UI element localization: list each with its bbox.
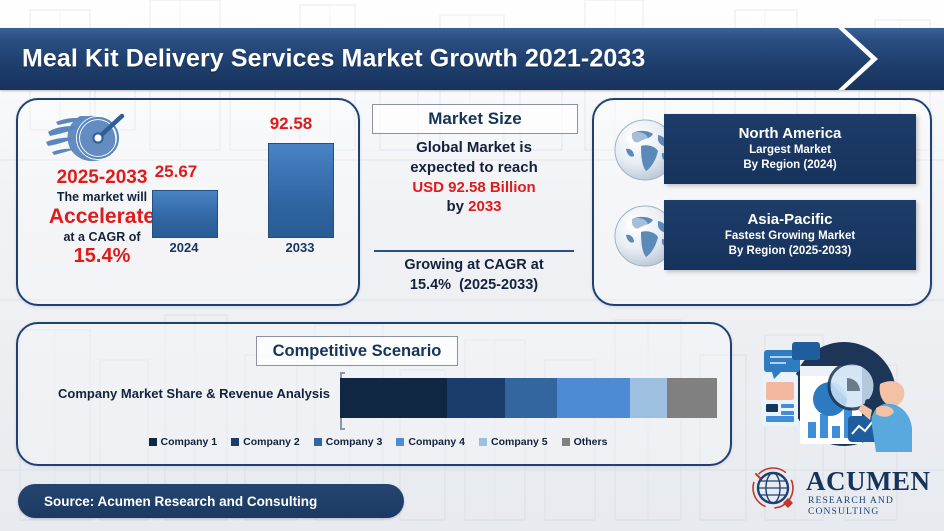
market-size-bar-chart: 25.67 2024 92.58 2033 — [138, 112, 354, 292]
brand-name: ACUMEN — [806, 466, 931, 497]
market-analysis-illustration — [752, 330, 932, 458]
market-size-year-line: by 2033 — [372, 197, 576, 217]
regions-panel: North America Largest Market By Region (… — [592, 98, 932, 306]
region-box-asia-pacific: Asia-Pacific Fastest Growing Market By R… — [664, 200, 916, 270]
stack-segment-company-1 — [340, 378, 447, 418]
market-size-value: USD 92.58 Billion — [372, 178, 576, 198]
legend-label: Company 2 — [243, 436, 300, 448]
cagr-growth-period: (2025-2033) — [459, 277, 538, 293]
market-size-title: Market Size — [372, 104, 578, 134]
legend-label: Company 3 — [326, 436, 383, 448]
market-share-stacked-bar — [340, 378, 717, 418]
legend-swatch — [562, 438, 570, 446]
market-size-line-2: expected to reach — [372, 158, 576, 178]
legend-swatch — [314, 438, 322, 446]
competitive-scenario-title: Competitive Scenario — [256, 336, 458, 366]
legend-swatch — [396, 438, 404, 446]
market-size-block: Market Size Global Market is expected to… — [372, 104, 580, 300]
chevron-right-icon — [838, 26, 884, 92]
legend-item-others: Others — [562, 436, 608, 448]
legend-item-company-1: Company 1 — [149, 436, 218, 448]
region-rank: Fastest Growing Market — [725, 229, 855, 244]
market-size-year: 2033 — [468, 198, 501, 215]
region-period: By Region (2025-2033) — [729, 244, 852, 259]
stack-segment-company-5 — [630, 378, 667, 418]
legend-label: Company 4 — [408, 436, 465, 448]
stack-segment-company-3 — [505, 378, 557, 418]
brand-tagline: RESEARCH AND CONSULTING — [808, 495, 934, 517]
region-name: Asia-Pacific — [747, 211, 832, 230]
legend-label: Company 1 — [161, 436, 218, 448]
region-rank: Largest Market — [749, 143, 831, 158]
region-name: North America — [739, 125, 842, 144]
cagr-growth-label: Growing at CAGR at — [372, 256, 576, 276]
legend-swatch — [149, 438, 157, 446]
acumen-globe-logo — [748, 464, 800, 514]
market-size-divider — [374, 250, 574, 252]
region-period: By Region (2024) — [743, 158, 836, 173]
bar-2033 — [268, 143, 334, 238]
header-banner: Meal Kit Delivery Services Market Growth… — [0, 28, 944, 90]
region-box-north-america: North America Largest Market By Region (… — [664, 114, 916, 184]
page-title: Meal Kit Delivery Services Market Growth… — [22, 45, 645, 74]
bar-label-2033: 2033 — [254, 240, 346, 255]
bar-value-2033: 92.58 — [248, 114, 334, 134]
stack-segment-company-4 — [557, 378, 630, 418]
bar-value-2024: 25.67 — [138, 162, 214, 182]
legend-label: Company 5 — [491, 436, 548, 448]
cagr-panel: 2025-2033 The market will Accelerate at … — [16, 98, 360, 306]
market-size-by-label: by — [446, 198, 468, 215]
market-size-line-1: Global Market is — [372, 138, 576, 158]
bar-label-2024: 2024 — [138, 240, 230, 255]
legend-item-company-2: Company 2 — [231, 436, 300, 448]
legend-item-company-3: Company 3 — [314, 436, 383, 448]
bar-2024 — [152, 190, 218, 238]
market-share-legend: Company 1 Company 2 Company 3 Company 4 … — [148, 436, 608, 448]
infographic-root: Meal Kit Delivery Services Market Growth… — [0, 0, 944, 531]
cagr-growth-value-line: 15.4% (2025-2033) — [372, 276, 576, 296]
market-share-label: Company Market Share & Revenue Analysis — [54, 386, 334, 401]
stack-segment-others — [667, 378, 717, 418]
legend-item-company-4: Company 4 — [396, 436, 465, 448]
legend-swatch — [479, 438, 487, 446]
market-size-body: Global Market is expected to reach USD 9… — [372, 138, 576, 217]
competitive-scenario-panel: Competitive Scenario Company Market Shar… — [16, 322, 732, 466]
legend-swatch — [231, 438, 239, 446]
source-text: Source: Acumen Research and Consulting — [18, 494, 317, 509]
region-row-north-america: North America Largest Market By Region (… — [608, 114, 916, 188]
cagr-growth-value: 15.4% — [410, 277, 451, 293]
speedometer-icon — [44, 106, 140, 166]
acumen-logo: ACUMEN RESEARCH AND CONSULTING — [748, 462, 934, 518]
market-size-footer: Growing at CAGR at 15.4% (2025-2033) — [372, 256, 576, 295]
legend-item-company-5: Company 5 — [479, 436, 548, 448]
legend-label: Others — [574, 436, 608, 448]
region-row-asia-pacific: Asia-Pacific Fastest Growing Market By R… — [608, 200, 916, 274]
source-banner: Source: Acumen Research and Consulting — [18, 484, 404, 518]
stack-segment-company-2 — [447, 378, 505, 418]
